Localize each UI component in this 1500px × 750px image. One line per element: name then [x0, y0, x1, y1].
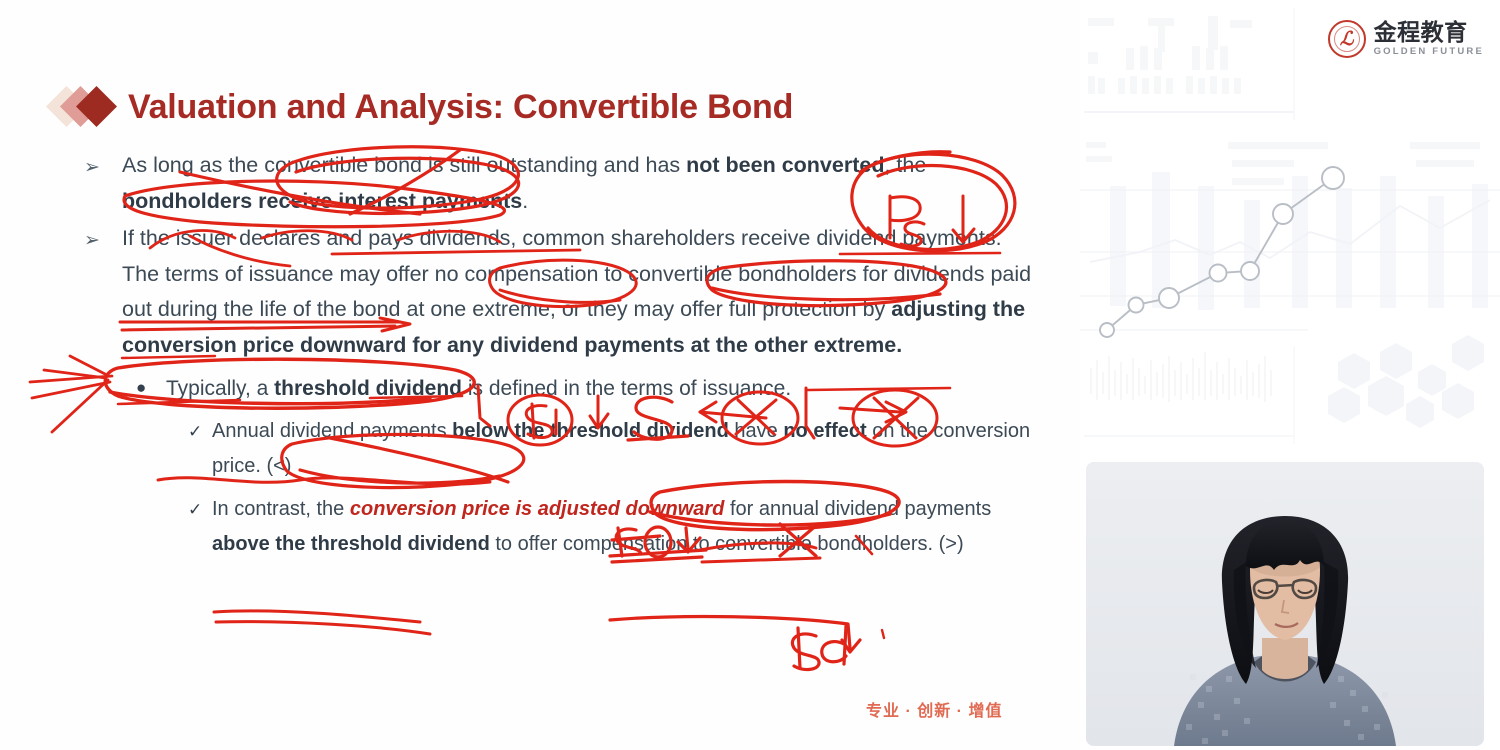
arrow-bullet-icon: ➢ — [84, 223, 100, 259]
bullet-item: ➢ As long as the convertible bond is sti… — [78, 148, 1038, 219]
bullet-item: ➢ If the issuer declares and pays divide… — [78, 221, 1038, 363]
bullet-text: In contrast, the conversion price is adj… — [212, 498, 991, 556]
underline-dividend-payments — [214, 611, 430, 634]
bullet-item: ✓ In contrast, the conversion price is a… — [78, 492, 1038, 563]
check-bullet-icon: ✓ — [188, 414, 202, 450]
hexagon-pattern — [1328, 335, 1484, 428]
slide-footer-slogan: 专业 · 创新 · 增值 — [866, 697, 1002, 721]
disc-bullet-icon: ● — [136, 370, 146, 406]
webcam-image — [1086, 462, 1484, 746]
right-panel: ℒ 金程教育 GOLDEN FUTURE — [1080, 0, 1500, 750]
brand-logo: ℒ 金程教育 GOLDEN FUTURE — [1328, 20, 1484, 58]
logo-text: 金程教育 GOLDEN FUTURE — [1374, 21, 1484, 57]
lecture-screenshot: Valuation and Analysis: Convertible Bond… — [0, 0, 1500, 750]
arrow-bullet-icon: ➢ — [84, 150, 100, 186]
seal-glyph: ℒ — [1330, 22, 1364, 56]
bullet-text: Typically, a threshold dividend is defin… — [166, 377, 791, 400]
tick-band — [1090, 352, 1272, 402]
note-dollar-d — [792, 626, 846, 669]
bullet-text: Annual dividend payments below the thres… — [212, 420, 1030, 478]
check-bullet-icon: ✓ — [188, 492, 202, 528]
bullet-item: ● Typically, a threshold dividend is def… — [78, 371, 1038, 407]
slide-header: Valuation and Analysis: Convertible Bond — [52, 84, 793, 130]
bullet-text: As long as the convertible bond is still… — [122, 153, 926, 213]
logo-chinese-name: 金程教育 — [1374, 21, 1484, 44]
bullet-text: If the issuer declares and pays dividend… — [122, 226, 1031, 357]
instructor-video-feed[interactable] — [1086, 462, 1484, 746]
page-title: Valuation and Analysis: Convertible Bond — [128, 88, 793, 127]
note-tick-mark — [882, 630, 884, 638]
seal-icon: ℒ — [1328, 20, 1366, 58]
slide-body: ➢ As long as the convertible bond is sti… — [78, 148, 1038, 563]
underline-above-the-threshold — [610, 617, 860, 652]
diamond-decoration-icon — [52, 84, 114, 130]
slide-area: Valuation and Analysis: Convertible Bond… — [0, 0, 1080, 750]
bullet-item: ✓ Annual dividend payments below the thr… — [78, 414, 1038, 485]
logo-english-name: GOLDEN FUTURE — [1374, 47, 1484, 57]
background-finance-graphics — [1080, 0, 1500, 462]
